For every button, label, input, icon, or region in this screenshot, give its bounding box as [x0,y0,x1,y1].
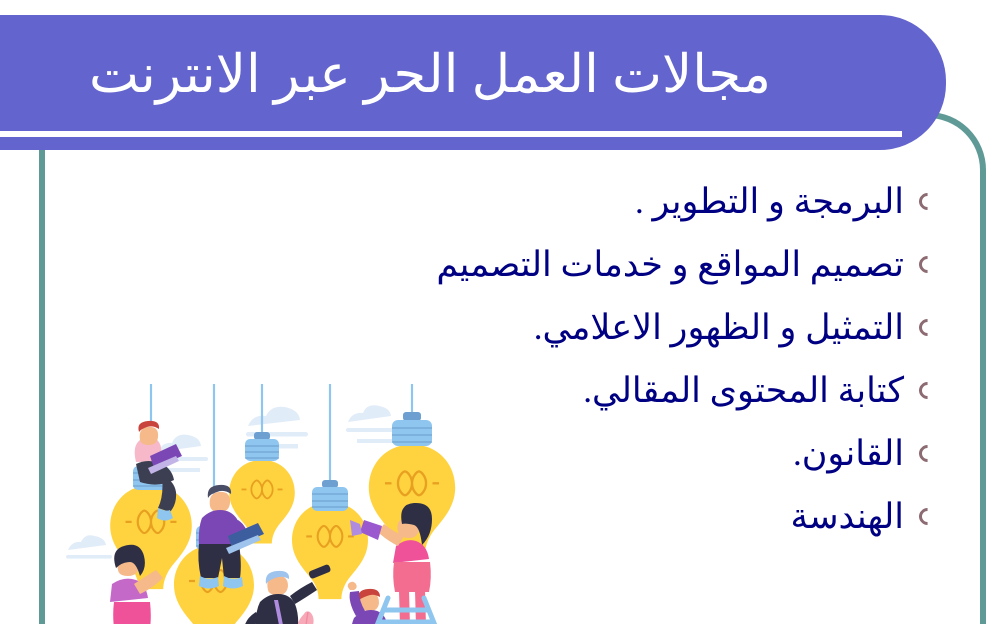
arc-bullet-icon [916,443,940,467]
list-item-label: الهندسة [790,497,904,537]
slide-title-bar: مجالات العمل الحر عبر الانترنت [0,15,946,150]
list-item-label: التمثيل و الظهور الاعلامي. [534,308,904,348]
hanging-lightbulbs-teamwork-illustration [62,384,482,624]
list-item: البرمجة و التطوير . [220,182,940,245]
list-item: تصميم المواقع و خدمات التصميم [220,245,940,308]
arc-bullet-icon [916,506,940,530]
list-item: التمثيل و الظهور الاعلامي. [220,308,940,371]
arc-bullet-icon [916,254,940,278]
list-item-label: القانون. [793,434,904,474]
list-item-label: كتابة المحتوى المقالي. [583,371,904,411]
list-item-label: البرمجة و التطوير . [635,182,904,222]
slide-title: مجالات العمل الحر عبر الانترنت [89,48,771,104]
arc-bullet-icon [916,317,940,341]
slide-canvas: مجالات العمل الحر عبر الانترنت البرمجة و… [0,0,986,624]
arc-bullet-icon [916,380,940,404]
list-item-label: تصميم المواقع و خدمات التصميم [436,245,904,285]
decorative-frame-left [39,150,45,624]
arc-bullet-icon [916,191,940,215]
title-underline-rule [0,131,902,137]
